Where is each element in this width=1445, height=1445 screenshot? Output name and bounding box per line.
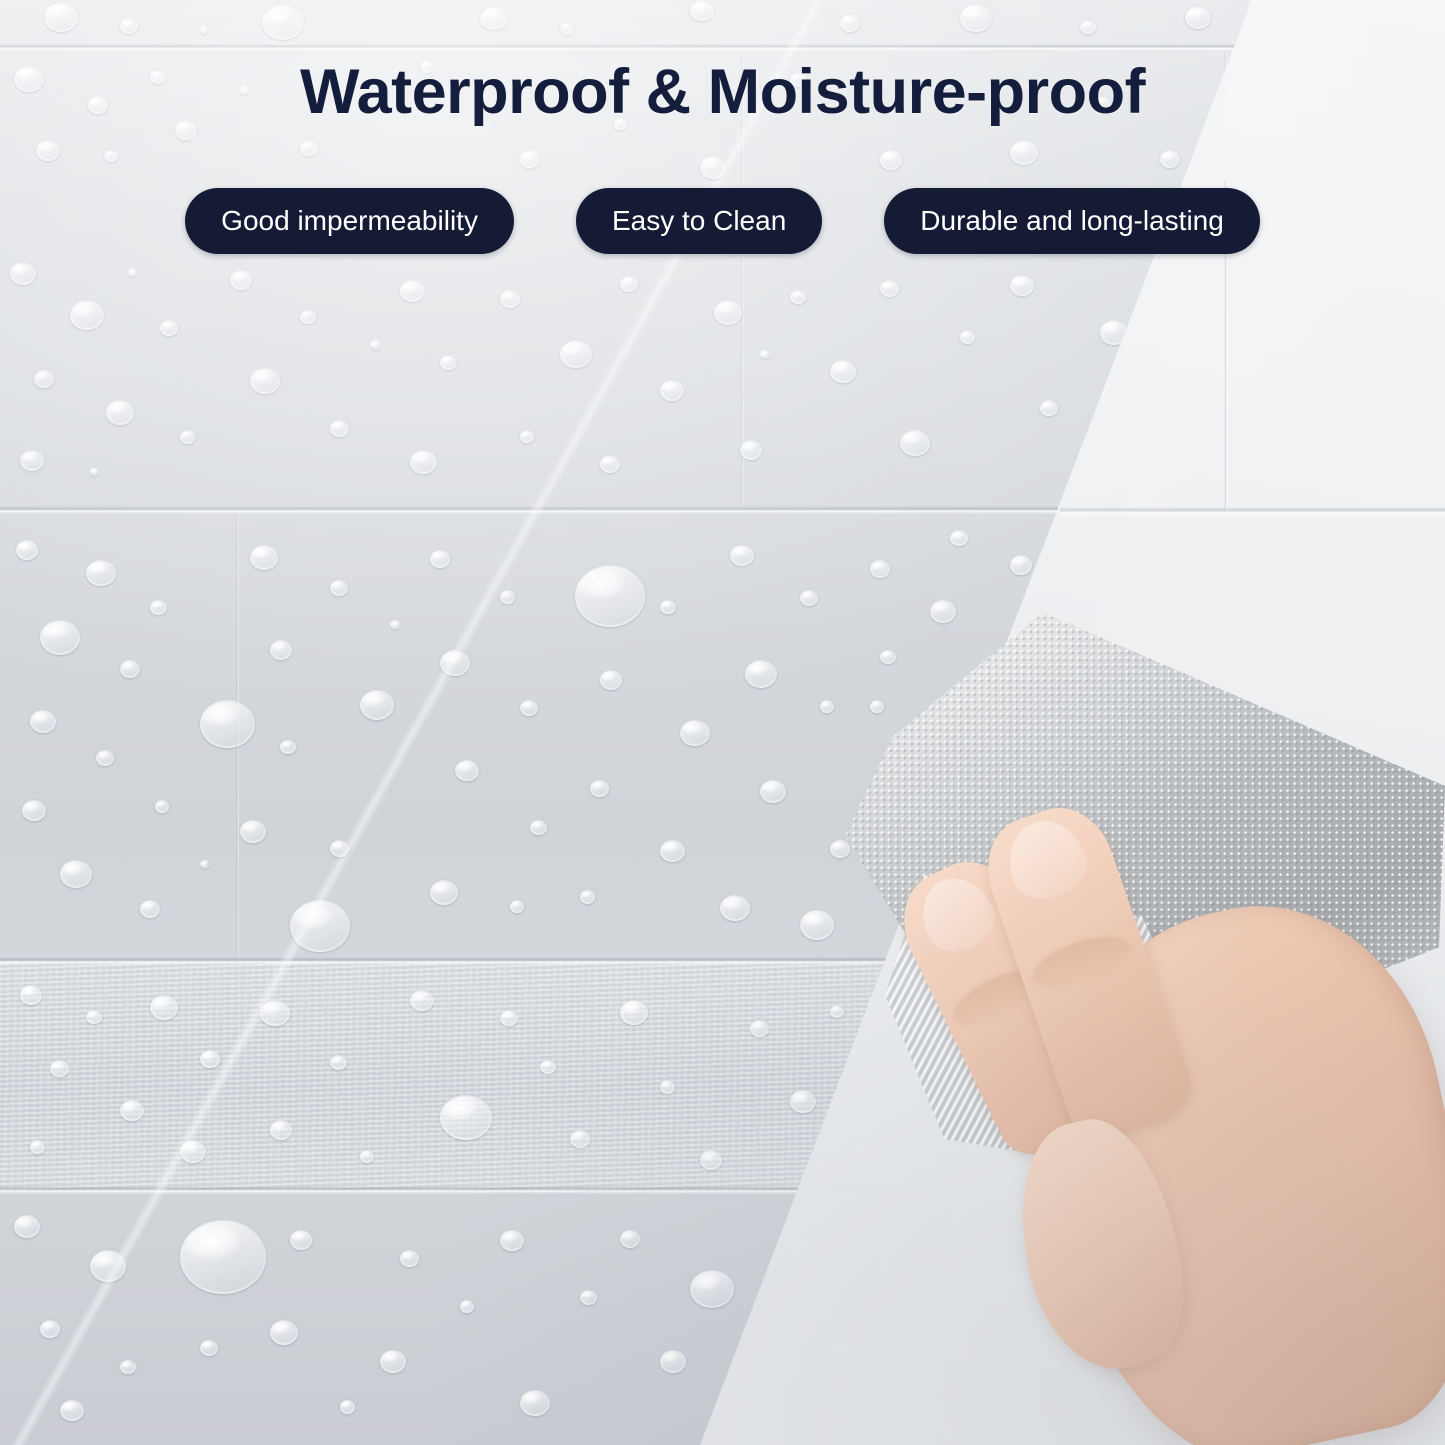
feature-badge-easy-to-clean[interactable]: Easy to Clean <box>576 188 822 254</box>
fingernail <box>998 811 1095 908</box>
feature-badge-row: Good impermeability Easy to Clean Durabl… <box>0 188 1445 254</box>
hand <box>935 790 1445 1445</box>
feature-badge-impermeability[interactable]: Good impermeability <box>185 188 514 254</box>
hand-knuckle <box>1026 926 1138 1000</box>
feature-badge-label: Durable and long-lasting <box>920 205 1224 237</box>
feature-badge-durable[interactable]: Durable and long-lasting <box>884 188 1260 254</box>
grout-line-clean-horizontal <box>1060 507 1445 516</box>
feature-badge-label: Good impermeability <box>221 205 478 237</box>
product-feature-banner: Waterproof & Moisture-proof Good imperme… <box>0 0 1445 1445</box>
feature-badge-label: Easy to Clean <box>612 205 786 237</box>
page-title: Waterproof & Moisture-proof <box>0 56 1445 128</box>
